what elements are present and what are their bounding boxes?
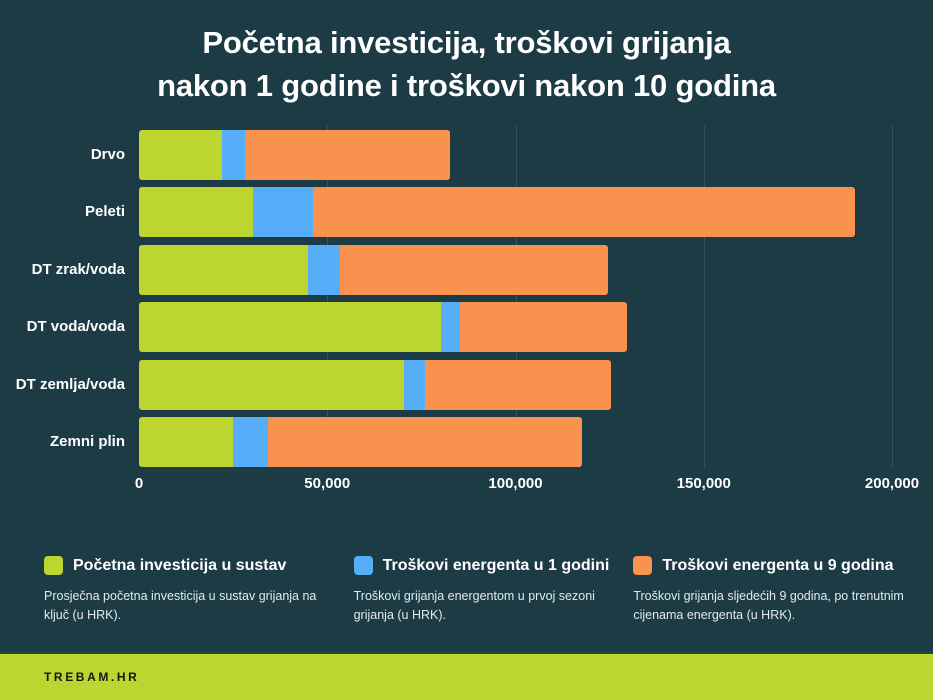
chart-area: DrvoPeletiDT zrak/vodaDT voda/vodaDT zem… [0,122,933,482]
legend-description: Prosječna početna investicija u sustav g… [44,587,330,626]
legend-swatch-icon [633,556,652,575]
gridline [892,126,893,467]
bar-row [139,417,892,467]
legend-label: Troškovi energenta u 1 godini [383,557,610,575]
bar-segment-investment [139,245,308,295]
bar-segment-investment [139,130,222,180]
category-label: Peleti [0,187,125,237]
bar-segment-years9 [340,245,608,295]
bar-segment-investment [139,360,404,410]
legend-swatch-icon [44,556,63,575]
bar-segment-investment [139,187,253,237]
bar-segment-years9 [425,360,611,410]
x-tick-label: 200,000 [865,475,919,492]
legend-item[interactable]: Troškovi energenta u 1 godiniTroškovi gr… [354,556,634,626]
value-axis: 050,000100,000150,000200,000 [139,471,892,501]
category-axis: DrvoPeletiDT zrak/vodaDT voda/vodaDT zem… [0,122,125,467]
legend: Početna investicija u sustavProsječna po… [44,556,904,626]
legend-header: Početna investicija u sustav [44,556,330,575]
category-label: DT zrak/voda [0,245,125,295]
bar-row [139,187,892,237]
bar-segment-year1 [222,130,245,180]
legend-label: Troškovi energenta u 9 godina [662,557,893,575]
title-line-1: Početna investicija, troškovi grijanja [0,22,933,65]
bar-segment-investment [139,302,441,352]
legend-header: Troškovi energenta u 1 godini [354,556,610,575]
infographic-root: Početna investicija, troškovi grijanja n… [0,0,933,700]
category-label: DT voda/voda [0,302,125,352]
plot-region [139,122,892,467]
bar-segment-investment [139,417,233,467]
bar-segment-year1 [441,302,460,352]
bar-segment-year1 [253,187,313,237]
bar-row [139,302,892,352]
page-title: Početna investicija, troškovi grijanja n… [0,0,933,108]
bar-row [139,245,892,295]
x-tick-label: 100,000 [488,475,542,492]
bar-segment-year1 [233,417,268,467]
x-tick-label: 150,000 [677,475,731,492]
footer-band: TREBAM.HR [0,651,933,700]
legend-description: Troškovi grijanja sljedećih 9 godina, po… [633,587,904,626]
bar-segment-years9 [268,417,582,467]
bar-segment-years9 [460,302,627,352]
bar-series-group [139,122,892,467]
title-line-2: nakon 1 godine i troškovi nakon 10 godin… [0,65,933,108]
legend-description: Troškovi grijanja energentom u prvoj sez… [354,587,610,626]
category-label: DT zemlja/voda [0,360,125,410]
bar-segment-year1 [404,360,425,410]
legend-item[interactable]: Početna investicija u sustavProsječna po… [44,556,354,626]
legend-swatch-icon [354,556,373,575]
legend-label: Početna investicija u sustav [73,557,286,575]
legend-header: Troškovi energenta u 9 godina [633,556,904,575]
category-label: Zemni plin [0,417,125,467]
bar-row [139,130,892,180]
bar-segment-years9 [313,187,855,237]
bar-row [139,360,892,410]
category-label: Drvo [0,130,125,180]
x-tick-label: 50,000 [304,475,350,492]
bar-segment-years9 [245,130,450,180]
legend-item[interactable]: Troškovi energenta u 9 godinaTroškovi gr… [633,556,904,626]
bar-segment-year1 [308,245,340,295]
x-tick-label: 0 [135,475,143,492]
brand-label: TREBAM.HR [44,670,139,684]
